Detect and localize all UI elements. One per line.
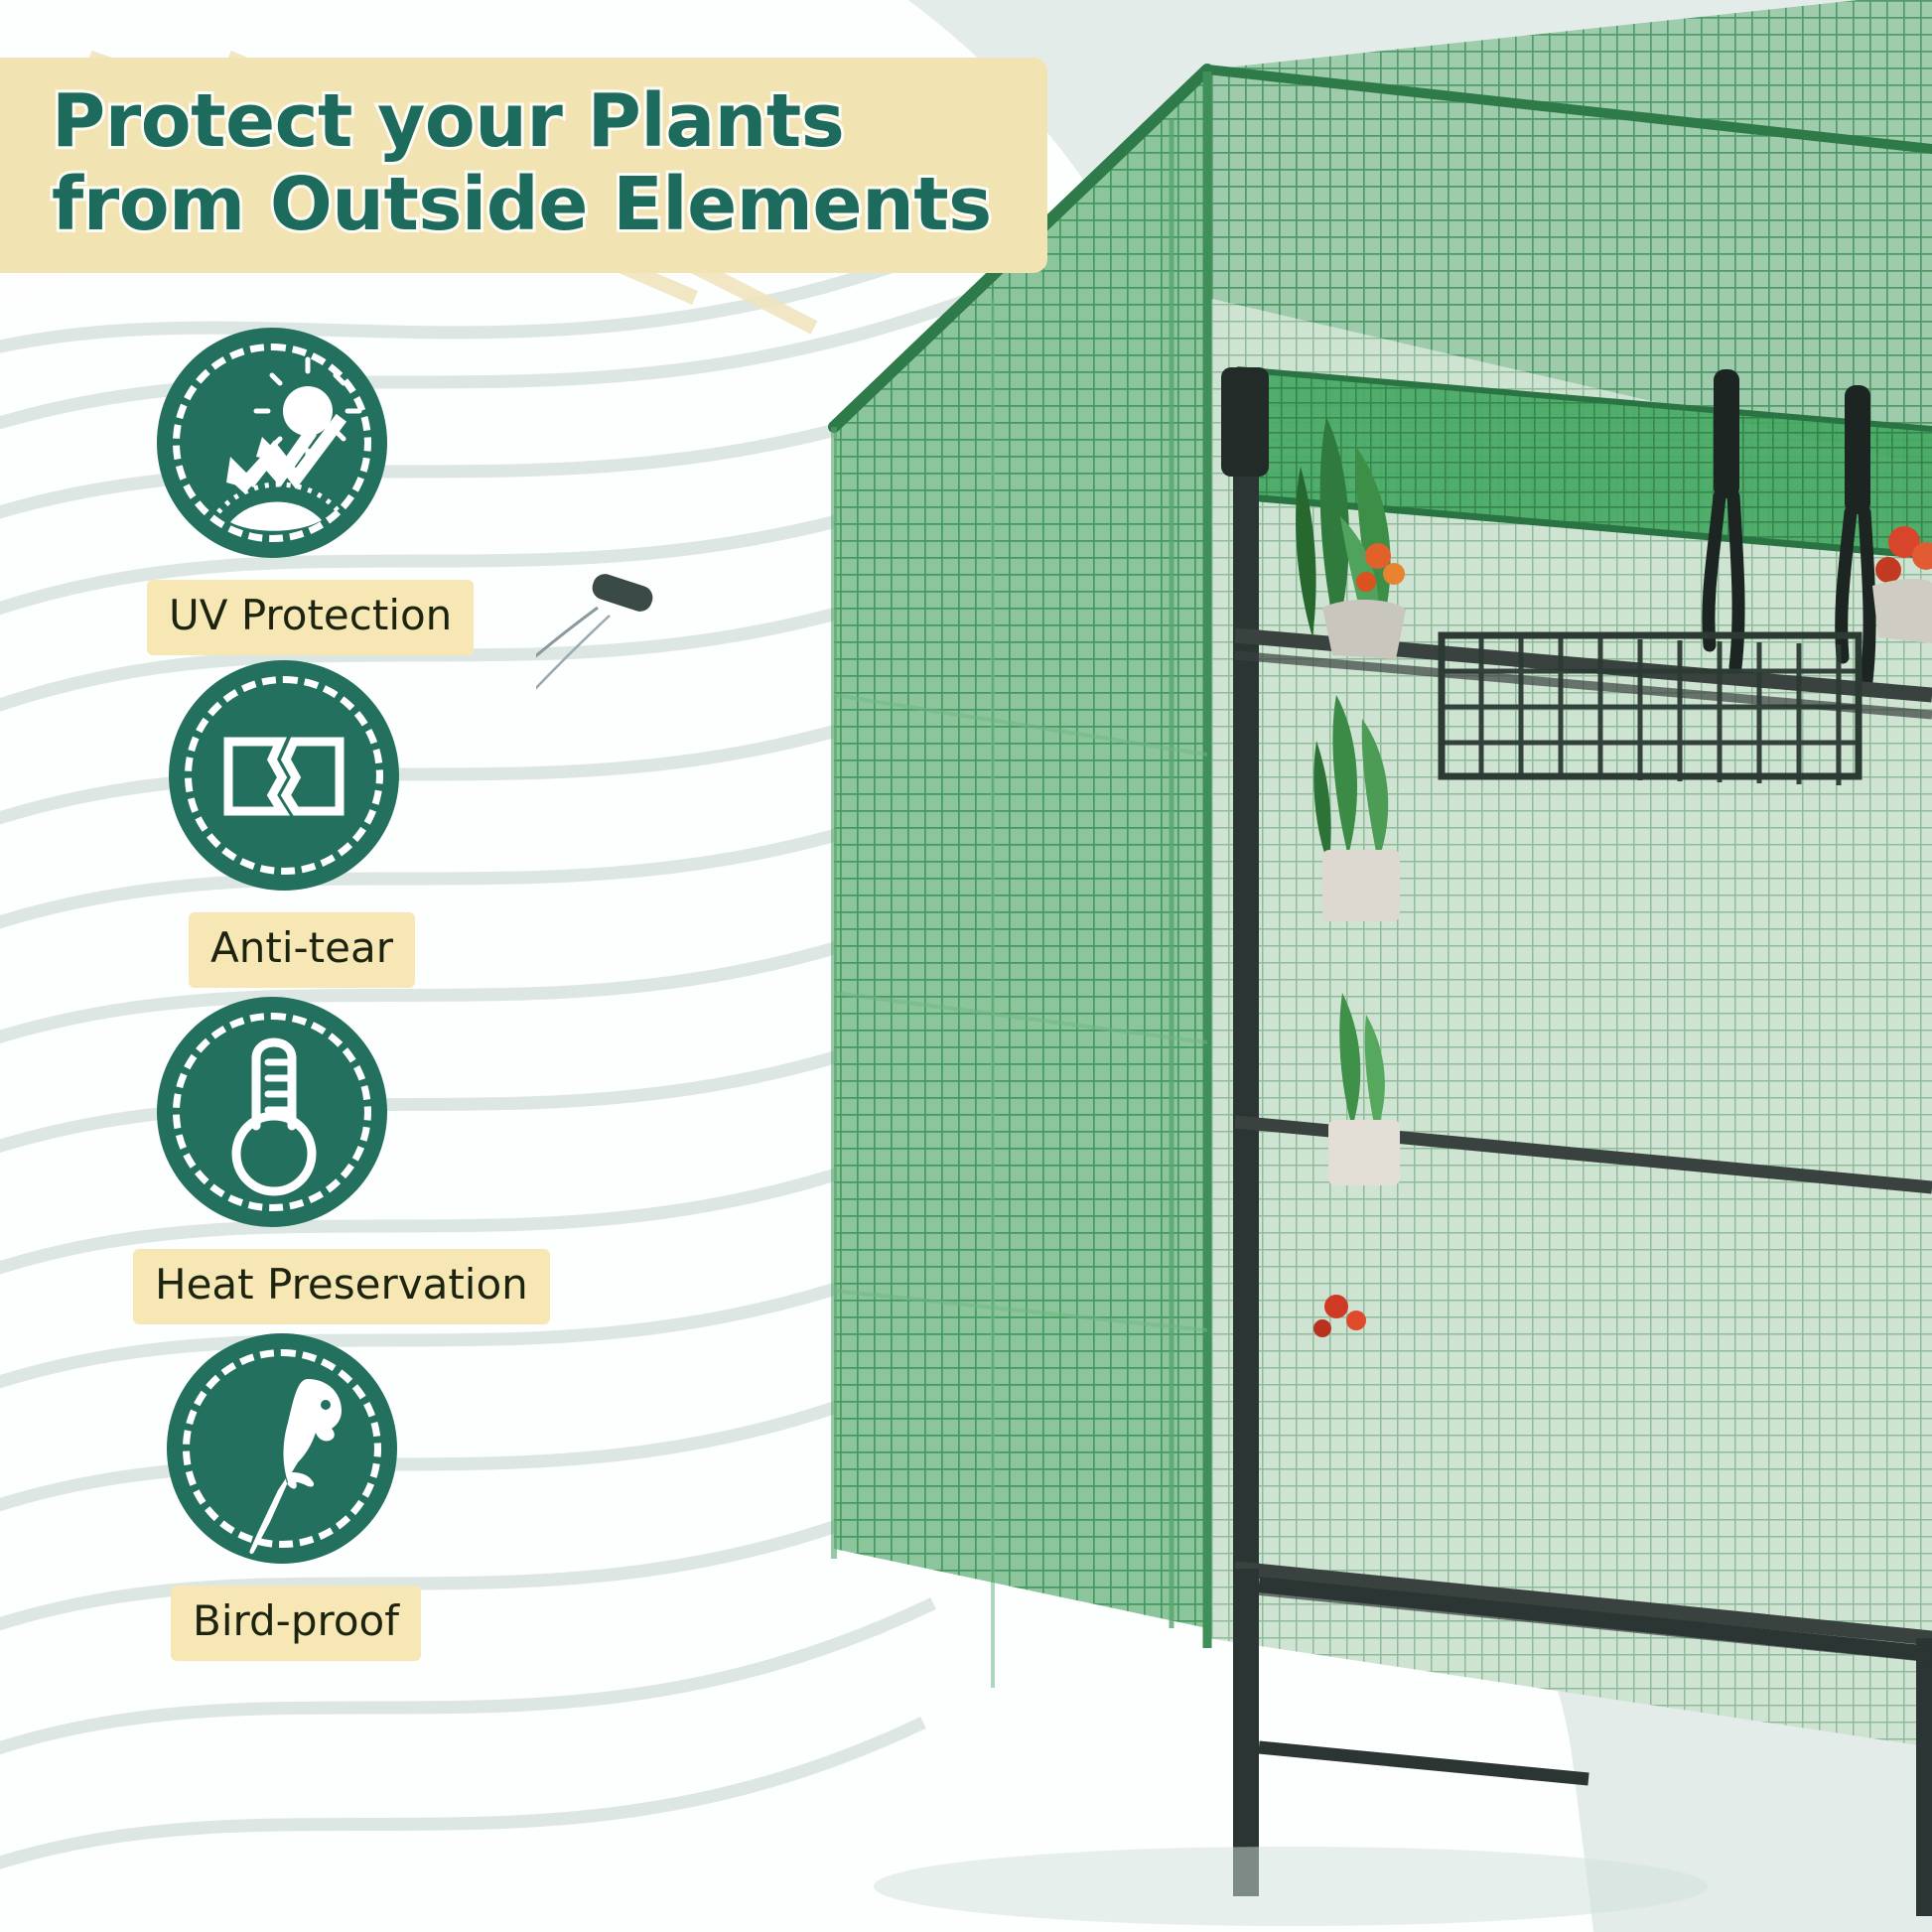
heat-preservation-badge[interactable] <box>157 997 387 1227</box>
uv-protection-badge[interactable] <box>157 328 387 558</box>
uv-sun-reflect-icon <box>157 328 387 558</box>
feature-heat-preservation[interactable]: Heat Preservation <box>0 983 556 1315</box>
bird-proof-badge[interactable] <box>167 1333 397 1564</box>
product-image-greenhouse <box>536 0 1932 1932</box>
parakeet-bird-icon <box>167 1333 397 1564</box>
feature-label-heat-preservation: Heat Preservation <box>133 1249 550 1324</box>
feature-bird-proof[interactable]: Bird-proof <box>0 1315 556 1648</box>
feature-list: UV Protection Anti-tear <box>0 318 556 1648</box>
feature-anti-tear[interactable]: Anti-tear <box>0 650 556 983</box>
poster-canvas: Protect your Plants from Outside Element… <box>0 0 1932 1932</box>
page-title: Protect your Plants from Outside Element… <box>52 79 992 247</box>
feature-label-bird-proof: Bird-proof <box>171 1586 421 1661</box>
torn-fabric-icon <box>169 660 399 891</box>
feature-label-uv-protection: UV Protection <box>147 580 474 655</box>
headline-banner: Protect your Plants from Outside Element… <box>0 58 1047 273</box>
anti-tear-badge[interactable] <box>169 660 399 891</box>
thermometer-icon <box>157 997 387 1227</box>
feature-label-anti-tear: Anti-tear <box>189 912 415 988</box>
feature-uv-protection[interactable]: UV Protection <box>0 318 556 650</box>
